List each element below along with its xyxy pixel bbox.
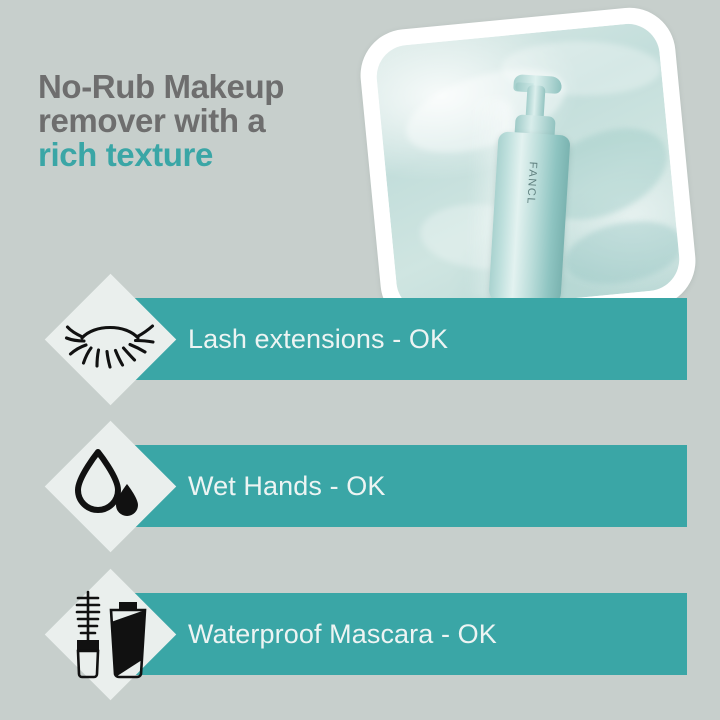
mascara-icon-svg xyxy=(66,588,154,680)
mascara-icon xyxy=(44,568,176,700)
feature-label: Wet Hands - OK xyxy=(188,445,385,527)
feature-label: Lash extensions - OK xyxy=(188,298,448,380)
headline-line-1: No-Rub Makeup xyxy=(38,70,398,104)
headline-line-2: remover with a xyxy=(38,104,398,138)
feature-row: Lash extensions - OK xyxy=(0,273,720,405)
water-drop-icon-svg xyxy=(72,446,148,526)
feature-icon-badge xyxy=(44,420,176,552)
feature-icon-badge xyxy=(44,273,176,405)
water-drop-icon xyxy=(44,420,176,552)
headline: No-Rub Makeup remover with a rich textur… xyxy=(38,70,398,172)
feature-row: Wet Hands - OK xyxy=(0,420,720,552)
brand-label: FANCL xyxy=(524,161,539,205)
product-infographic: No-Rub Makeup remover with a rich textur… xyxy=(0,0,720,720)
feature-label: Waterproof Mascara - OK xyxy=(188,593,497,675)
feature-icon-badge xyxy=(44,568,176,700)
eyelash-icon-svg xyxy=(64,308,156,370)
headline-line-3-accent: rich texture xyxy=(38,138,398,172)
eyelash-icon xyxy=(44,273,176,405)
product-photo: FANCL xyxy=(374,21,682,315)
feature-row: Waterproof Mascara - OK xyxy=(0,568,720,700)
